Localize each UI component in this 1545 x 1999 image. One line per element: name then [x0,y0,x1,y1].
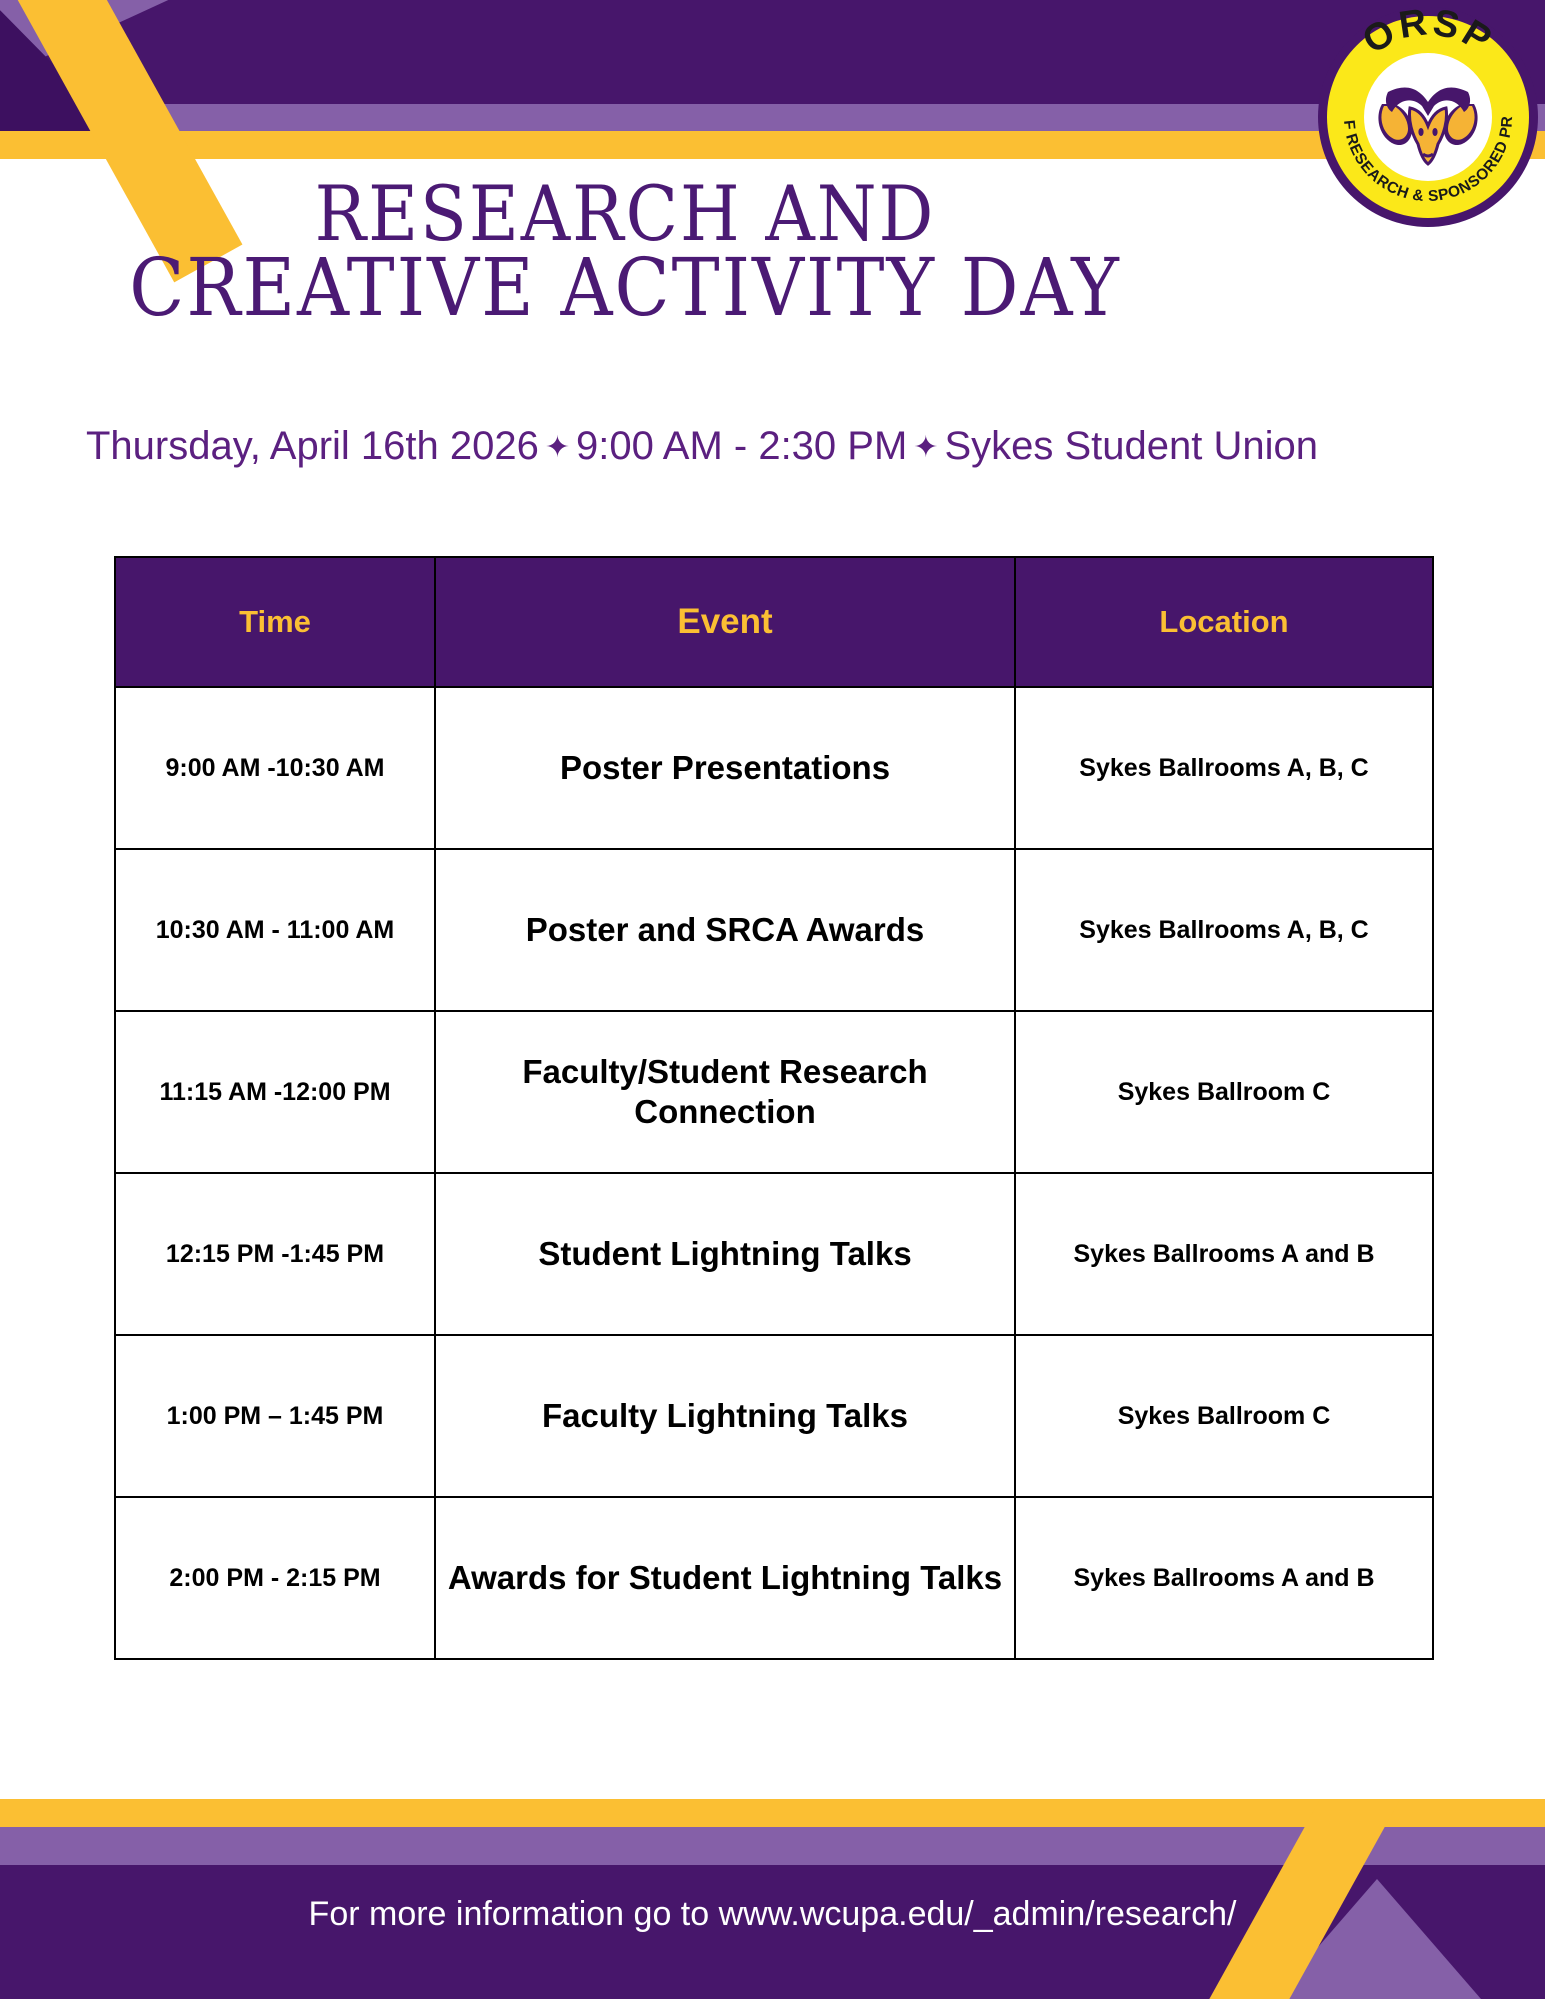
cell-time: 11:15 AM -12:00 PM [115,1011,435,1173]
cell-location: Sykes Ballroom C [1015,1011,1433,1173]
top-band-light-purple-stripe [0,104,1545,131]
table-row: 10:30 AM - 11:00 AM Poster and SRCA Awar… [115,849,1433,1011]
cell-location: Sykes Ballrooms A, B, C [1015,687,1433,849]
table-row: 11:15 AM -12:00 PM Faculty/Student Resea… [115,1011,1433,1173]
subtitle-separator-1-icon: ✦ [539,431,576,464]
column-header-event: Event [435,557,1015,687]
cell-location: Sykes Ballrooms A and B [1015,1497,1433,1659]
table-row: 1:00 PM – 1:45 PM Faculty Lightning Talk… [115,1335,1433,1497]
column-header-location: Location [1015,557,1433,687]
orsp-logo: ORSP OFFICE OF RESEARCH & SPONSORED PROG… [1317,6,1539,228]
cell-time: 10:30 AM - 11:00 AM [115,849,435,1011]
cell-event: Student Lightning Talks [435,1173,1015,1335]
poster-subtitle: Thursday, April 16th 2026✦9:00 AM - 2:30… [86,424,1186,469]
cell-event: Poster Presentations [435,687,1015,849]
footer-info-text: For more information go to www.wcupa.edu… [0,1895,1545,1934]
top-band-dark-purple [0,0,1545,104]
cell-location: Sykes Ballroom C [1015,1335,1433,1497]
poster-title: RESEARCH AND CREATIVE ACTIVITY DAY [0,178,1250,326]
subtitle-venue: Sykes Student Union [944,424,1318,468]
cell-event: Poster and SRCA Awards [435,849,1015,1011]
poster-title-line1: RESEARCH AND [0,178,1250,250]
table-row: 12:15 PM -1:45 PM Student Lightning Talk… [115,1173,1433,1335]
cell-location: Sykes Ballrooms A, B, C [1015,849,1433,1011]
table-row: 9:00 AM -10:30 AM Poster Presentations S… [115,687,1433,849]
cell-time: 12:15 PM -1:45 PM [115,1173,435,1335]
top-gold-bar [0,131,1545,159]
cell-event: Faculty/Student Research Connection [435,1011,1015,1173]
cell-time: 1:00 PM – 1:45 PM [115,1335,435,1497]
schedule-table: Time Event Location 9:00 AM -10:30 AM Po… [114,556,1434,1660]
subtitle-time: 9:00 AM - 2:30 PM [576,424,907,468]
cell-location: Sykes Ballrooms A and B [1015,1173,1433,1335]
top-decorative-band [0,0,1545,132]
subtitle-separator-2-icon: ✦ [907,431,944,464]
cell-time: 9:00 AM -10:30 AM [115,687,435,849]
footer-decorative-band: For more information go to www.wcupa.edu… [0,1799,1545,1999]
table-row: 2:00 PM - 2:15 PM Awards for Student Lig… [115,1497,1433,1659]
cell-event: Awards for Student Lightning Talks [435,1497,1015,1659]
subtitle-date: Thursday, April 16th 2026 [86,424,539,468]
cell-time: 2:00 PM - 2:15 PM [115,1497,435,1659]
poster-title-line2: CREATIVE ACTIVITY DAY [0,250,1250,326]
column-header-time: Time [115,557,435,687]
schedule-header-row: Time Event Location [115,557,1433,687]
cell-event: Faculty Lightning Talks [435,1335,1015,1497]
